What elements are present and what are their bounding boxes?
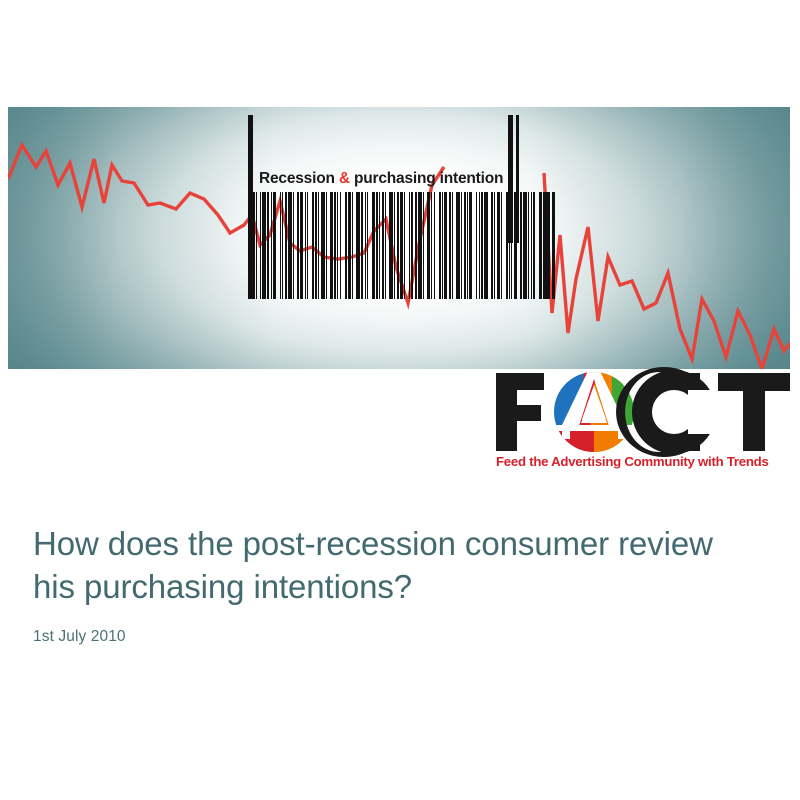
title-block: How does the post-recession consumer rev…: [33, 523, 763, 646]
title-slide: Recession & purchasing intention: [0, 0, 800, 800]
barcode-caption-ampersand: &: [339, 170, 350, 187]
barcode-caption-row: Recession & purchasing intention: [248, 165, 556, 193]
barcode-caption-part-2: purchasing intention: [350, 170, 503, 187]
barcode-bars: [248, 192, 556, 299]
barcode-caption-part-1: Recession: [259, 170, 339, 187]
fact-logo: Feed the Advertising Community with Tren…: [492, 367, 794, 479]
trend-line-right-segment: [544, 173, 790, 369]
recession-banner-image: Recession & purchasing intention: [8, 107, 790, 369]
slide-date: 1st July 2010: [33, 628, 763, 646]
fact-wordmark: [492, 367, 794, 457]
fact-logo-tagline: Feed the Advertising Community with Tren…: [496, 455, 796, 468]
fact-letter-t: [718, 373, 790, 451]
barcode-graphic: Recession & purchasing intention: [248, 165, 556, 299]
barcode-caption-text: Recession & purchasing intention: [253, 171, 508, 187]
page-title: How does the post-recession consumer rev…: [33, 523, 733, 609]
fact-letter-f: [496, 373, 544, 451]
